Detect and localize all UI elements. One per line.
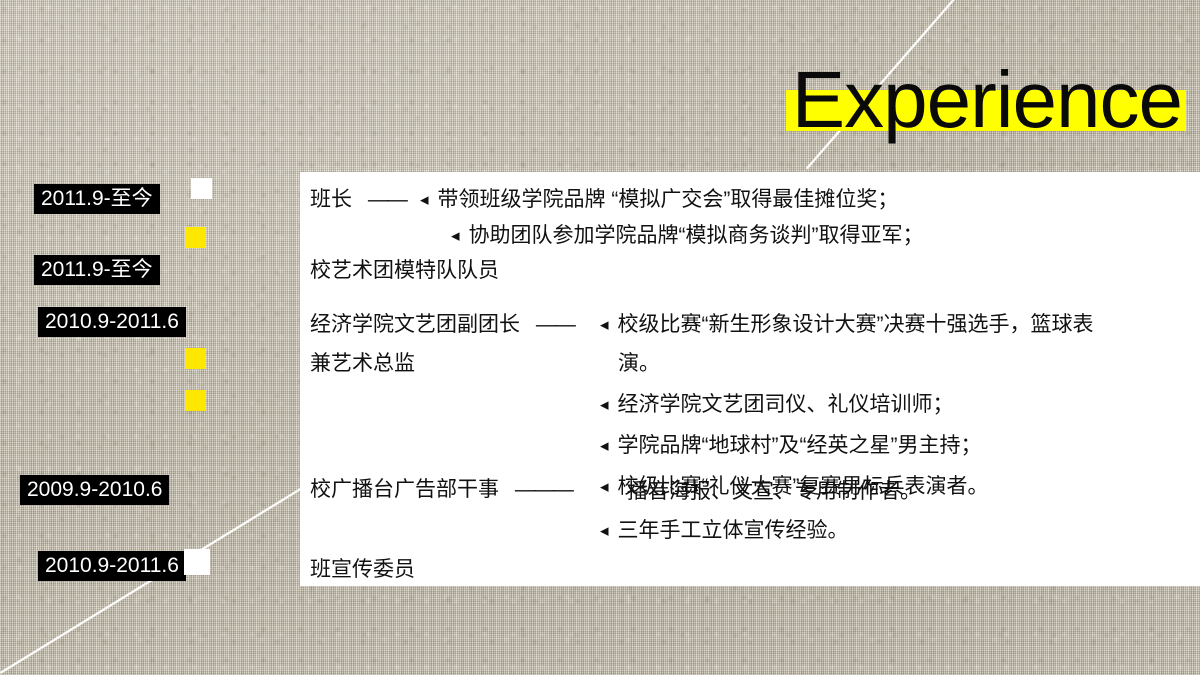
bullet-triangle-icon: ◂ (600, 517, 609, 545)
slide-canvas: Experience 2011.9-至今 2011.9-至今 2010.9-20… (0, 0, 1200, 675)
title-text: Experience (792, 58, 1182, 142)
entry-3-bullet-2: ◂经济学院文艺团司仪、礼仪培训师； (600, 391, 954, 419)
entry-4-bullet-2-text: 三年手工立体宣传经验。 (618, 519, 849, 542)
entry-dash-1: —— (368, 186, 406, 214)
marker-square-2 (185, 227, 206, 248)
bullet-triangle-icon: ◂ (420, 186, 429, 214)
date-chip-5: 2010.9-2011.6 (38, 551, 186, 581)
entry-3-bullet-1-text: 校级比赛“新生形象设计大赛”决赛十强选手，篮球表 (618, 313, 1094, 336)
bullet-triangle-icon: ◂ (600, 311, 609, 339)
entry-1-bullet-1: ◂带领班级学院品牌 “模拟广交会”取得最佳摊位奖； (420, 186, 898, 214)
entry-3-bullet-2-text: 经济学院文艺团司仪、礼仪培训师； (618, 393, 954, 416)
bullet-triangle-icon: ◂ (600, 391, 609, 419)
entry-role-1: 班长 —— (310, 186, 406, 214)
entry-1-bullet-1-text: 带领班级学院品牌 “模拟广交会”取得最佳摊位奖； (438, 188, 899, 211)
entry-dash-4: ——— (515, 476, 572, 504)
entry-role-4-label: 校广播台广告部干事 (310, 478, 499, 501)
entry-role-3-line2: 兼艺术总监 (310, 350, 415, 378)
marker-square-1 (191, 178, 212, 199)
entry-4-bullet-2: ◂三年手工立体宣传经验。 (600, 517, 849, 545)
entry-role-5: 班宣传委员 (310, 556, 415, 584)
entry-role-1-label: 班长 (310, 188, 352, 211)
bullet-triangle-icon: ◂ (600, 432, 609, 460)
entry-3-bullet-1: ◂校级比赛“新生形象设计大赛”决赛十强选手，篮球表 (600, 311, 1094, 339)
date-chip-1: 2011.9-至今 (34, 184, 160, 214)
entry-1-bullet-2-text: 协助团队参加学院品牌“模拟商务谈判”取得亚军； (469, 224, 924, 247)
entry-role-3-label: 经济学院文艺团副团长 (310, 313, 520, 336)
entry-3-bullet-3: ◂学院品牌“地球村”及“经英之星”男主持； (600, 432, 982, 460)
date-chip-4: 2009.9-2010.6 (20, 475, 169, 505)
marker-square-3 (185, 348, 206, 369)
marker-square-4 (185, 390, 206, 411)
entry-3-bullet-1-cont: 演。 (618, 350, 660, 378)
bullet-triangle-icon: ◂ (600, 473, 609, 501)
entry-role-2: 校艺术团模特队队员 (310, 257, 499, 285)
entry-role-3: 经济学院文艺团副团长 —— (310, 311, 574, 339)
entry-3-bullet-3-text: 学院品牌“地球村”及“经英之星”男主持； (618, 434, 982, 457)
entry-dash-3: —— (536, 311, 574, 339)
entry-1-bullet-2: ◂协助团队参加学院品牌“模拟商务谈判”取得亚军； (451, 222, 924, 250)
marker-square-5 (184, 549, 210, 575)
slide-title: Experience (792, 58, 1182, 142)
date-chip-3: 2010.9-2011.6 (38, 307, 186, 337)
bullet-triangle-icon: ◂ (451, 222, 460, 250)
date-chip-2: 2011.9-至今 (34, 255, 160, 285)
entry-4-bullet-1-overlap: 播音海报、文宣、专用制作者。 (627, 478, 921, 506)
entry-role-4: 校广播台广告部干事 ——— (310, 476, 572, 504)
